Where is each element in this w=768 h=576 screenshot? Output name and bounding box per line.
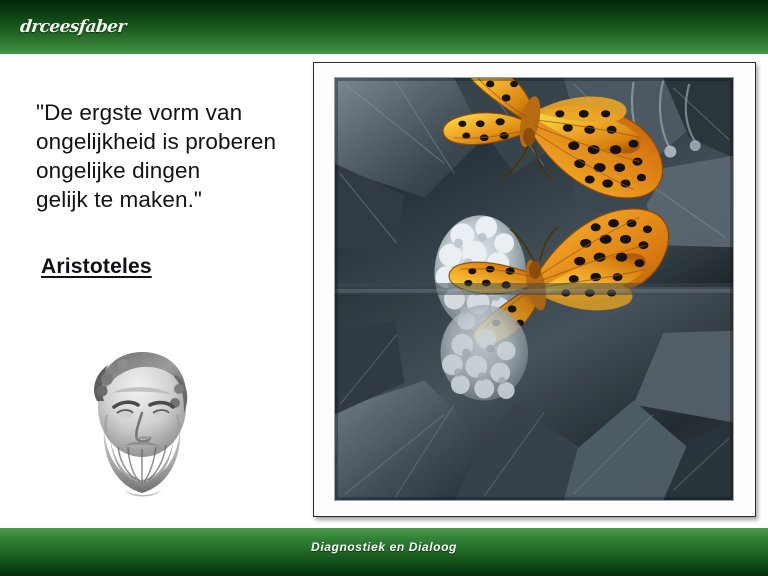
quote-block: "De ergste vorm van ongelijkheid is prob… bbox=[36, 98, 316, 214]
bottom-banner: Diagnostiek en Dialoog bbox=[0, 528, 768, 576]
brand-logo: drceesfaber bbox=[19, 17, 127, 37]
quote-text: "De ergste vorm van ongelijkheid is prob… bbox=[36, 98, 316, 214]
footer-text: Diagnostiek en Dialoog bbox=[0, 540, 768, 554]
photo-inner-edge bbox=[334, 77, 734, 501]
butterflies-photo bbox=[335, 78, 733, 500]
aristotle-bust-graphic bbox=[80, 343, 202, 503]
photo-frame bbox=[313, 62, 756, 517]
quote-attribution: Aristoteles bbox=[41, 255, 152, 279]
presentation-slide: drceesfaber "De ergste vorm van ongelijk… bbox=[0, 0, 768, 576]
top-banner: drceesfaber bbox=[0, 0, 768, 54]
aristotle-bust-image bbox=[80, 343, 202, 503]
